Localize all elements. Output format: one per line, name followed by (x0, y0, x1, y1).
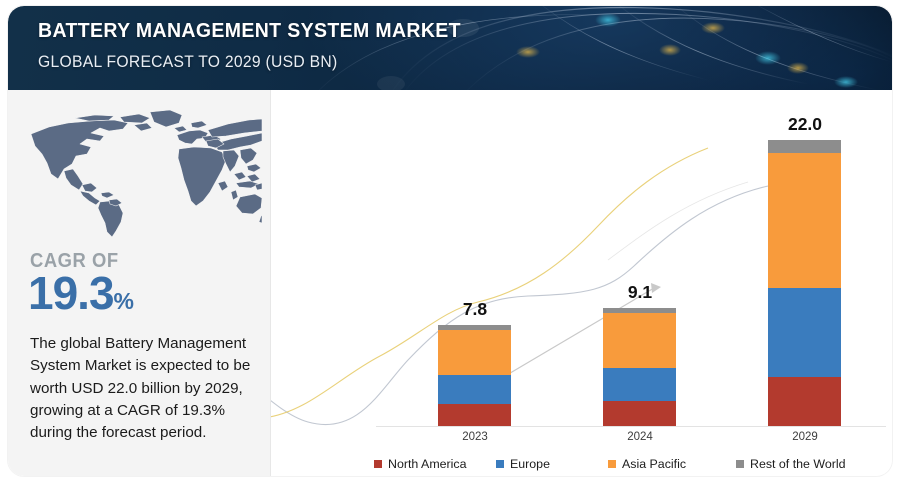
page-title: BATTERY MANAGEMENT SYSTEM MARKET (38, 18, 461, 44)
legend-item-rest-of-the-world[interactable]: Rest of the World (736, 457, 846, 471)
page-subtitle: GLOBAL FORECAST TO 2029 (USD BN) (38, 52, 461, 73)
x-axis-label-2024: 2024 (580, 431, 700, 443)
legend-swatch-icon (374, 460, 382, 468)
legend-label: Asia Pacific (622, 457, 686, 471)
legend-label: Europe (510, 457, 550, 471)
left-summary-panel: CAGR OF 19.3% The global Battery Managem… (8, 90, 270, 476)
bar-total-label-2024: 9.1 (580, 282, 700, 303)
bar-total-label-2029: 22.0 (745, 114, 865, 135)
bar-total-label-2023: 7.8 (415, 299, 535, 320)
x-axis-label-2029: 2029 (745, 431, 865, 443)
bar-segment-2023-europe[interactable] (438, 375, 511, 404)
legend-swatch-icon (496, 460, 504, 468)
cagr-value: 19.3% (28, 270, 134, 316)
bar-2024[interactable] (603, 308, 676, 426)
legend-swatch-icon (608, 460, 616, 468)
bar-segment-2024-asia-pacific[interactable] (603, 313, 676, 368)
bar-segment-2023-asia-pacific[interactable] (438, 330, 511, 376)
bar-2029[interactable] (768, 140, 841, 426)
legend-label: Rest of the World (750, 457, 846, 471)
infographic-page: BATTERY MANAGEMENT SYSTEM MARKET GLOBAL … (0, 0, 900, 482)
header-text-block: BATTERY MANAGEMENT SYSTEM MARKET GLOBAL … (38, 18, 483, 72)
world-map-graphic (16, 108, 262, 240)
bar-segment-2024-europe[interactable] (603, 368, 676, 402)
legend-swatch-icon (736, 460, 744, 468)
legend-item-europe[interactable]: Europe (496, 457, 608, 471)
cagr-percent-sign: % (114, 288, 134, 314)
infographic-card: BATTERY MANAGEMENT SYSTEM MARKET GLOBAL … (8, 6, 892, 476)
bar-segment-2029-north-america[interactable] (768, 377, 841, 426)
cagr-number: 19.3 (28, 267, 114, 319)
header-banner: BATTERY MANAGEMENT SYSTEM MARKET GLOBAL … (8, 6, 892, 90)
x-axis-label-2023: 2023 (415, 431, 535, 443)
bar-segment-2029-asia-pacific[interactable] (768, 153, 841, 288)
bar-segment-2023-north-america[interactable] (438, 404, 511, 426)
bar-segment-2029-europe[interactable] (768, 288, 841, 376)
bar-2023[interactable] (438, 325, 511, 426)
legend-label: North America (388, 457, 467, 471)
stacked-bar-chart: 7.820239.1202422.02029 19.3% (271, 90, 892, 476)
bar-segment-2029-rest-of-the-world[interactable] (768, 140, 841, 153)
chart-legend: North AmericaEuropeAsia PacificRest of t… (374, 454, 892, 474)
summary-description: The global Battery Management System Mar… (30, 333, 254, 445)
bar-segment-2024-north-america[interactable] (603, 401, 676, 426)
body-area: CAGR OF 19.3% The global Battery Managem… (8, 90, 892, 476)
legend-item-asia-pacific[interactable]: Asia Pacific (608, 457, 736, 471)
legend-item-north-america[interactable]: North America (374, 457, 496, 471)
world-map-icon (16, 108, 262, 240)
